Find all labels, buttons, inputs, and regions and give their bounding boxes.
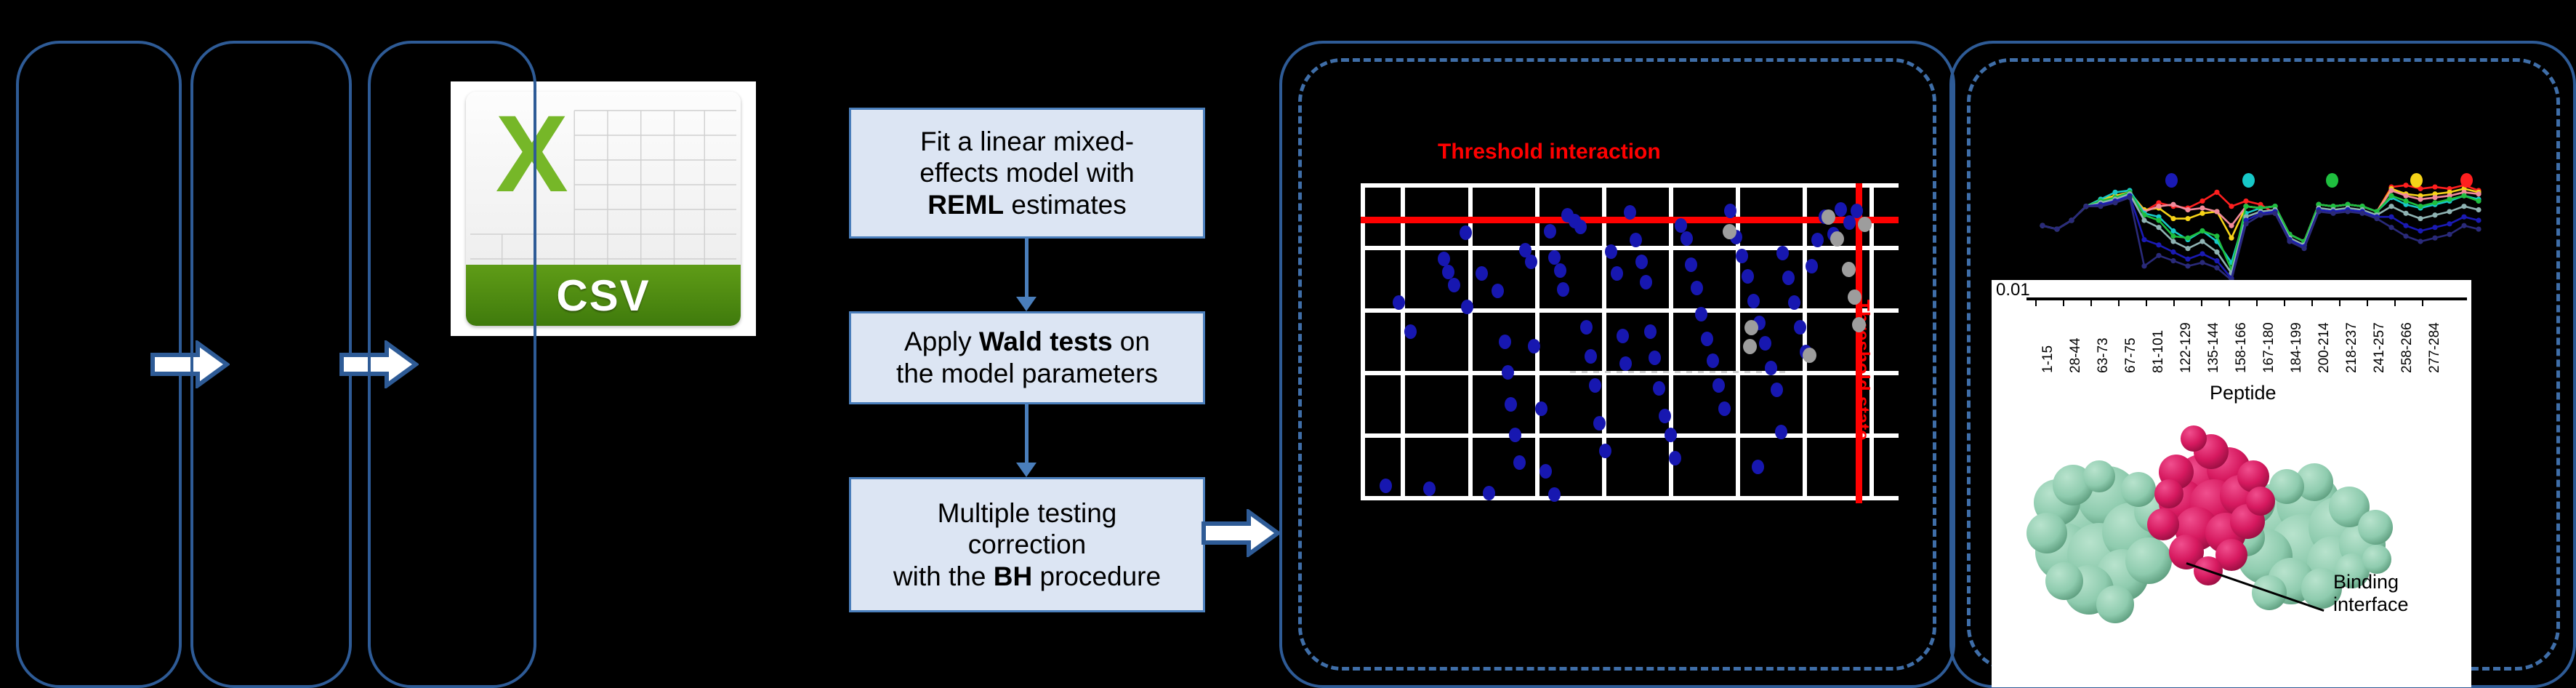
legend-dot-red [2460,173,2473,188]
peptide-tick-label: 200-214 [2317,322,2333,373]
peptide-tick-label: 241-257 [2372,322,2388,373]
csv-input-panel[interactable] [190,41,352,688]
connector-wald-to-bh-head [1016,463,1037,477]
peptide-tick-label: 63-73 [2096,337,2112,373]
legend-dot-yellow [2410,173,2423,188]
binding-interface-label-line2: interface [2333,593,2409,616]
step-bh-text: Multiple testing correction with the BH … [893,497,1161,593]
arrow-stats-to-scatter [1201,509,1281,557]
peptide-tick [2367,297,2368,306]
peptide-tick-label: 28-44 [2068,337,2084,373]
scatter-grid [1361,183,1899,503]
peptide-structure-inset[interactable]: 0.01 1-1528-4463-7367-7581-101122-129135… [1992,280,2471,687]
peptide-tick [2173,297,2175,306]
binding-interface-label-line1: Binding [2333,571,2409,593]
peptide-tick-label: 158-166 [2234,322,2250,373]
peptide-axis-title: Peptide [2210,382,2277,404]
peptide-tick-label: 167-180 [2261,322,2277,373]
legend-dot-green [2326,173,2338,188]
peptide-tick-label: 258-266 [2399,322,2415,373]
csv-format-label: CSV [556,271,650,321]
peptide-tick-label: 135-144 [2206,322,2222,373]
peptide-tick-label: 81-101 [2151,330,2167,373]
peptide-tick [2229,297,2230,306]
peptide-tick [2311,297,2313,306]
peptide-tick [2063,297,2064,306]
legend-dot-cyan [2242,173,2255,188]
protein-structure-image [2013,409,2420,657]
step-reml-text: Fit a linear mixed- effects model with R… [919,126,1134,221]
peptide-tick [2256,297,2258,306]
legend-dot-blue [2165,173,2178,188]
peptide-tick-label: 122-129 [2178,322,2194,373]
peptide-tick [2146,297,2147,306]
step-bh-box[interactable]: Multiple testing correction with the BH … [849,477,1205,612]
statistics-panel[interactable] [368,41,536,688]
connector-wald-to-bh [1025,404,1029,467]
peptide-tick-label: 67-75 [2123,337,2139,373]
peptide-tick-label: 1-15 [2040,345,2056,373]
connector-reml-to-wald [1025,239,1029,301]
peptide-tick [2394,297,2396,306]
step-wald-text: Apply Wald tests on the model parameters [896,326,1158,389]
step-wald-box[interactable]: Apply Wald tests on the model parameters [849,311,1205,404]
threshold-interaction-title: Threshold interaction [1438,140,1661,164]
peptide-tick [2035,297,2037,306]
step-reml-box[interactable]: Fit a linear mixed- effects model with R… [849,108,1205,239]
peptide-tick-label: 277-284 [2427,322,2443,373]
threshold-scatter-plot[interactable]: Threshold interaction Position A (0.02 0… [1330,138,1919,524]
peptide-tick-label: 218-237 [2344,322,2360,373]
peptide-tick [2339,297,2340,306]
peptide-tick [2284,297,2285,306]
peptide-ytick-label: 0.01 [1996,280,2030,300]
connector-reml-to-wald-head [1016,297,1037,311]
peptide-tick [2422,297,2423,306]
scatter-dashed-guide [1570,371,1788,373]
peptide-line-chart[interactable] [1992,138,2486,284]
peptide-tick-label: 184-199 [2289,322,2305,373]
peptide-x-axis [2026,297,2467,300]
peptide-tick [2118,297,2120,306]
peptide-tick [2090,297,2092,306]
peptide-tick [2201,297,2202,306]
binding-interface-label: Binding interface [2333,571,2409,616]
